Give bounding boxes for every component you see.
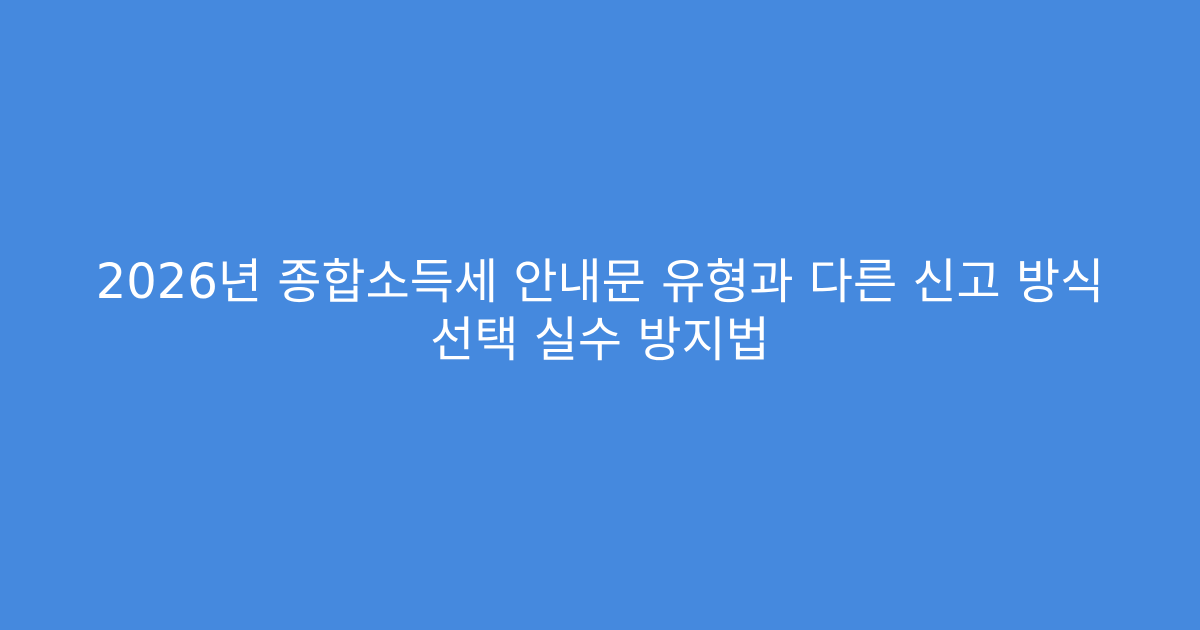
page-title: 2026년 종합소득세 안내문 유형과 다른 신고 방식 선택 실수 방지법 — [40, 253, 1160, 369]
headline-block: 2026년 종합소득세 안내문 유형과 다른 신고 방식 선택 실수 방지법 — [40, 253, 1160, 377]
share-card: 2026년 종합소득세 안내문 유형과 다른 신고 방식 선택 실수 방지법 — [0, 0, 1200, 630]
